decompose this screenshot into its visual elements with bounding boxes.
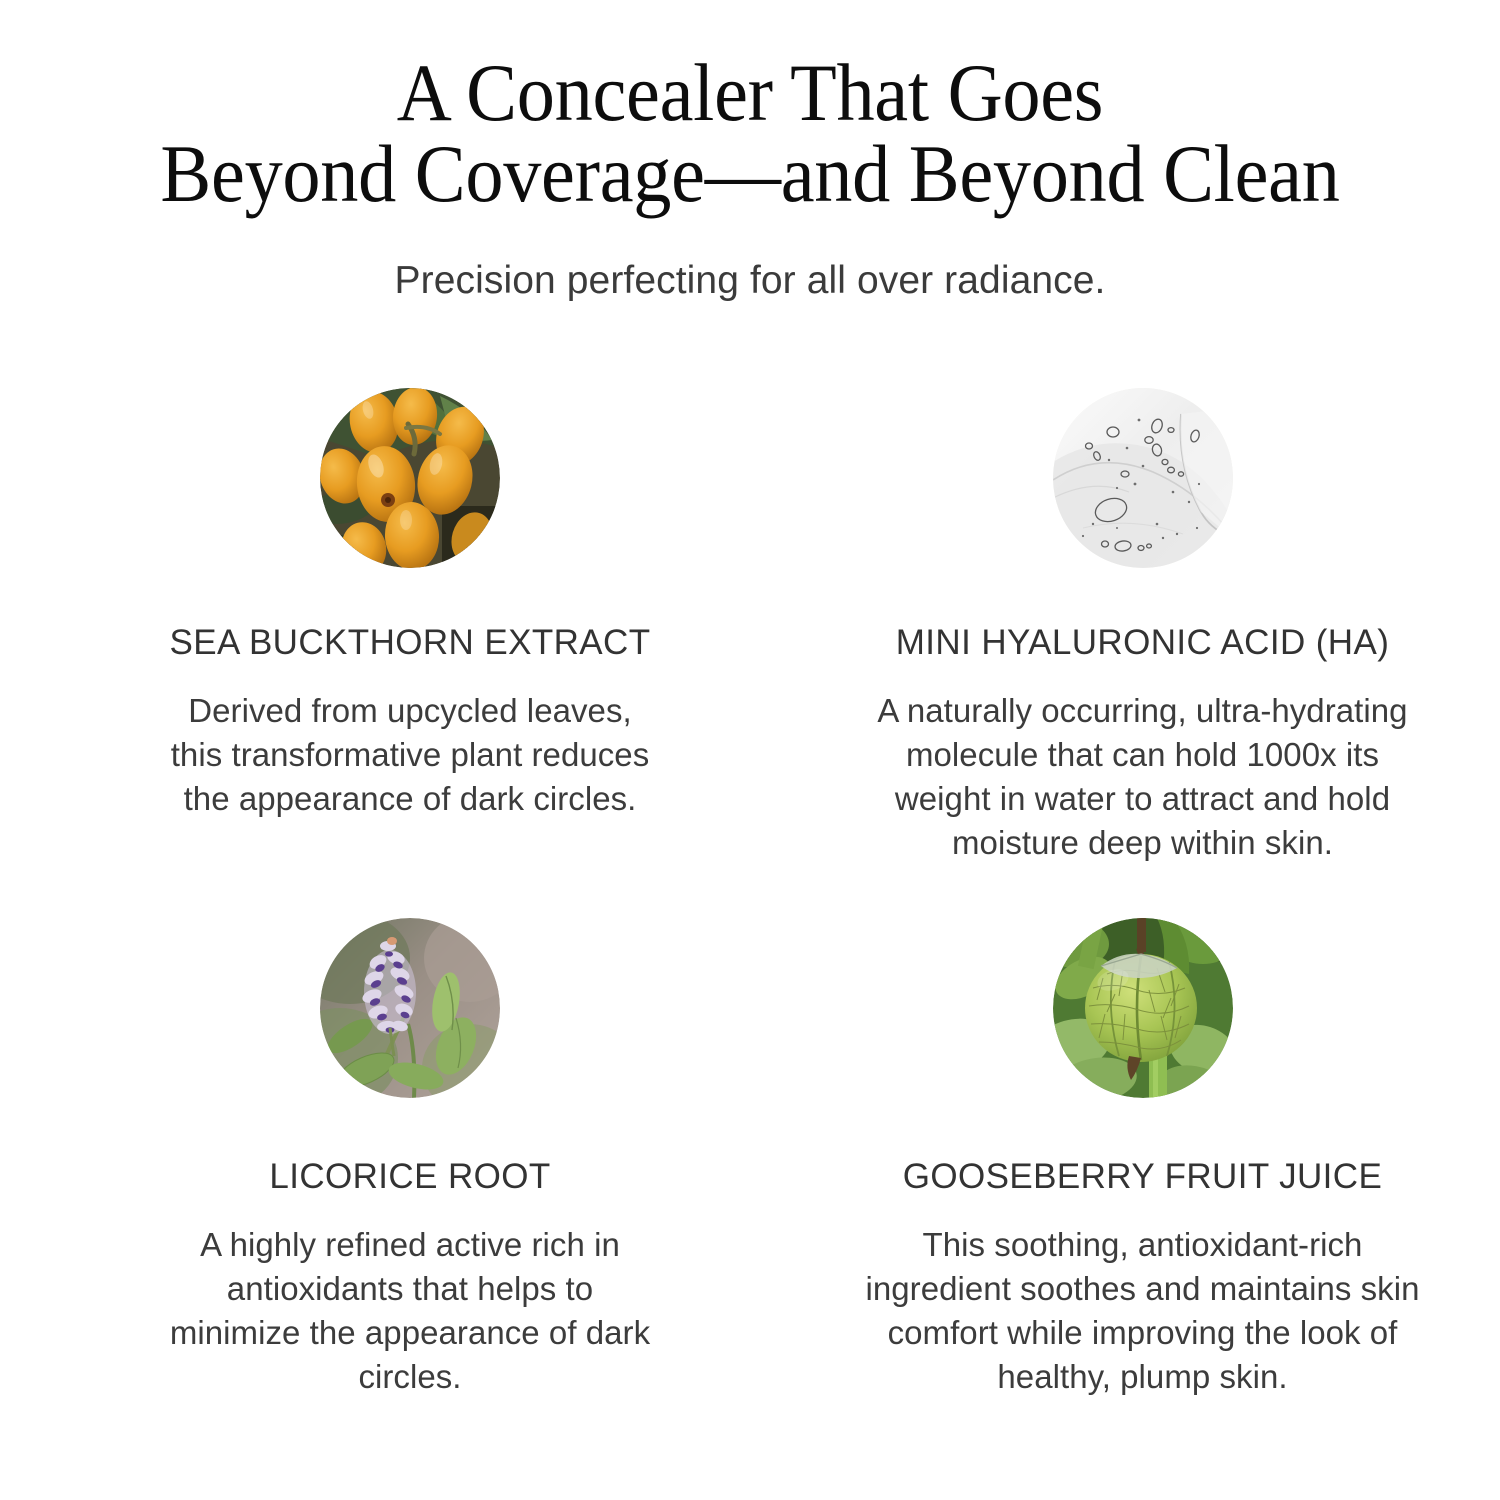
sea-buckthorn-illustration	[320, 388, 500, 568]
sea-buckthorn-image	[320, 388, 500, 568]
page-header: A Concealer That Goes Beyond Coverage—an…	[0, 0, 1500, 305]
page-title-line-2: Beyond Coverage—and Beyond Clean	[136, 133, 1364, 214]
ingredient-grid: SEA BUCKTHORN EXTRACT Derived from upcyc…	[0, 388, 1500, 1448]
ingredient-description: This soothing, antioxidant-rich ingredie…	[855, 1223, 1430, 1400]
ingredient-name: SEA BUCKTHORN EXTRACT	[160, 624, 660, 663]
hyaluronic-acid-image	[1053, 388, 1233, 568]
ingredient-benefits-page: A Concealer That Goes Beyond Coverage—an…	[0, 0, 1500, 1500]
gel-texture-illustration	[1053, 388, 1233, 568]
ingredient-name: MINI HYALURONIC ACID (HA)	[870, 624, 1415, 663]
ingredient-description: Derived from upcycled leaves, this trans…	[160, 689, 660, 822]
gooseberry-husk-illustration	[1053, 918, 1233, 1098]
ingredient-card-sea-buckthorn: SEA BUCKTHORN EXTRACT Derived from upcyc…	[0, 388, 750, 918]
ingredient-description: A naturally occurring, ultra-hydrating m…	[870, 689, 1415, 866]
ingredient-name: GOOSEBERRY FRUIT JUICE	[855, 1158, 1430, 1197]
page-title-line-1: A Concealer That Goes	[136, 52, 1364, 133]
ingredient-card-licorice-root: LICORICE ROOT A highly refined active ri…	[0, 918, 750, 1448]
ingredient-description: A highly refined active rich in antioxid…	[160, 1223, 660, 1400]
page-subtitle: Precision perfecting for all over radian…	[0, 258, 1500, 305]
gooseberry-image	[1053, 918, 1233, 1098]
ingredient-card-hyaluronic-acid: MINI HYALURONIC ACID (HA) A naturally oc…	[750, 388, 1500, 918]
ingredient-card-gooseberry: GOOSEBERRY FRUIT JUICE This soothing, an…	[750, 918, 1500, 1448]
ingredient-name: LICORICE ROOT	[160, 1158, 660, 1197]
licorice-root-image	[320, 918, 500, 1098]
page-title: A Concealer That Goes Beyond Coverage—an…	[136, 52, 1364, 214]
licorice-flower-illustration	[320, 918, 500, 1098]
